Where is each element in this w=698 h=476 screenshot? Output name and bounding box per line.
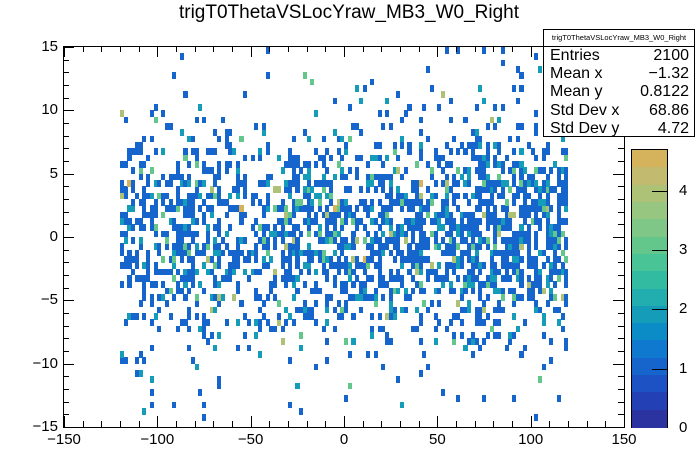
heatmap-cell bbox=[202, 402, 206, 409]
heatmap-cell bbox=[523, 167, 527, 174]
heatmap-cell bbox=[374, 294, 378, 301]
heatmap-cell bbox=[493, 123, 497, 130]
heatmap-cell bbox=[157, 180, 161, 187]
heatmap-cell bbox=[273, 269, 277, 276]
heatmap-cell bbox=[422, 104, 426, 111]
heatmap-cell bbox=[243, 155, 247, 162]
heatmap-cell bbox=[419, 281, 423, 288]
heatmap-cell bbox=[471, 281, 475, 288]
heatmap-cell bbox=[463, 345, 467, 352]
heatmap-cell bbox=[266, 250, 270, 257]
heatmap-cell bbox=[370, 79, 374, 86]
heatmap-cell bbox=[154, 205, 158, 212]
heatmap-cell bbox=[449, 231, 453, 238]
heatmap-cell bbox=[217, 300, 221, 307]
heatmap-cell bbox=[307, 136, 311, 143]
heatmap-cell bbox=[426, 364, 430, 371]
heatmap-cell bbox=[430, 262, 434, 269]
heatmap-cell bbox=[142, 161, 146, 168]
heatmap-cells bbox=[64, 47, 624, 427]
heatmap-cell bbox=[239, 218, 243, 225]
heatmap-cell bbox=[419, 117, 423, 124]
axis-tick bbox=[618, 288, 624, 289]
heatmap-cell bbox=[254, 218, 258, 225]
heatmap-cell bbox=[135, 256, 139, 263]
heatmap-cell bbox=[127, 262, 131, 269]
heatmap-cell bbox=[415, 326, 419, 333]
axis-tick bbox=[456, 46, 457, 52]
heatmap-cell bbox=[396, 237, 400, 244]
heatmap-cell bbox=[415, 161, 419, 168]
heatmap-cell bbox=[295, 383, 299, 390]
heatmap-cell bbox=[490, 256, 494, 263]
heatmap-cell bbox=[161, 148, 165, 155]
heatmap-cell bbox=[150, 193, 154, 200]
heatmap-cell bbox=[254, 123, 258, 130]
heatmap-cell bbox=[239, 250, 243, 257]
axis-tick bbox=[568, 421, 569, 427]
heatmap-cell bbox=[493, 281, 497, 288]
heatmap-cell bbox=[288, 148, 292, 155]
heatmap-cell bbox=[139, 167, 143, 174]
heatmap-cell bbox=[426, 205, 430, 212]
heatmap-cell bbox=[542, 332, 546, 339]
heatmap-cell bbox=[310, 186, 314, 193]
heatmap-cell bbox=[131, 199, 135, 206]
heatmap-cell bbox=[505, 180, 509, 187]
heatmap-cell bbox=[217, 174, 221, 181]
heatmap-cell bbox=[463, 117, 467, 124]
heatmap-cell bbox=[542, 262, 546, 269]
axis-tick bbox=[101, 421, 102, 427]
heatmap-cell bbox=[273, 326, 277, 333]
heatmap-cell bbox=[266, 205, 270, 212]
heatmap-cell bbox=[363, 288, 367, 295]
heatmap-cell bbox=[531, 174, 535, 181]
heatmap-cell bbox=[217, 332, 221, 339]
heatmap-cell bbox=[344, 174, 348, 181]
axis-tick bbox=[618, 414, 624, 415]
heatmap-cell bbox=[217, 224, 221, 231]
heatmap-cell bbox=[295, 256, 299, 263]
heatmap-cell bbox=[419, 199, 423, 206]
x-axis-tick-label: −150 bbox=[34, 431, 94, 448]
heatmap-cell bbox=[318, 288, 322, 295]
heatmap-cell bbox=[150, 376, 154, 383]
heatmap-cell bbox=[131, 180, 135, 187]
heatmap-cell bbox=[549, 357, 553, 364]
heatmap-cell bbox=[202, 218, 206, 225]
heatmap-cell bbox=[557, 224, 561, 231]
heatmap-cell bbox=[254, 243, 258, 250]
heatmap-cell bbox=[467, 300, 471, 307]
heatmap-cell bbox=[561, 313, 565, 320]
heatmap-cell bbox=[120, 281, 124, 288]
heatmap-cell bbox=[467, 180, 471, 187]
heatmap-cell bbox=[564, 243, 568, 250]
heatmap-cell bbox=[497, 174, 501, 181]
heatmap-cell bbox=[139, 148, 143, 155]
heatmap-cell bbox=[396, 243, 400, 250]
heatmap-cell bbox=[437, 319, 441, 326]
heatmap-cell bbox=[202, 414, 206, 421]
heatmap-cell bbox=[355, 256, 359, 263]
heatmap-cell bbox=[422, 231, 426, 238]
heatmap-cell bbox=[441, 91, 445, 98]
heatmap-cell bbox=[210, 269, 214, 276]
heatmap-cell bbox=[538, 193, 542, 200]
y-axis-tick-label: −10 bbox=[33, 355, 58, 372]
heatmap-cell bbox=[366, 186, 370, 193]
heatmap-cell bbox=[135, 250, 139, 257]
heatmap-cell bbox=[359, 186, 363, 193]
heatmap-cell bbox=[288, 218, 292, 225]
heatmap-cell bbox=[120, 110, 124, 117]
heatmap-cell bbox=[512, 332, 516, 339]
heatmap-cell bbox=[557, 237, 561, 244]
heatmap-cell bbox=[445, 205, 449, 212]
heatmap-cell bbox=[254, 231, 258, 238]
axis-tick bbox=[531, 416, 532, 427]
heatmap-cell bbox=[277, 186, 281, 193]
heatmap-cell bbox=[434, 338, 438, 345]
heatmap-cell bbox=[135, 357, 139, 364]
heatmap-cell bbox=[564, 256, 568, 263]
heatmap-cell bbox=[266, 237, 270, 244]
statistics-row-key: Entries bbox=[550, 47, 600, 65]
heatmap-cell bbox=[333, 250, 337, 257]
heatmap-cell bbox=[419, 212, 423, 219]
heatmap-cell bbox=[546, 212, 550, 219]
heatmap-cell bbox=[512, 174, 516, 181]
heatmap-cell bbox=[516, 250, 520, 257]
heatmap-cell bbox=[434, 180, 438, 187]
heatmap-cell bbox=[307, 243, 311, 250]
heatmap-cell bbox=[295, 262, 299, 269]
heatmap-cell bbox=[411, 205, 415, 212]
heatmap-cell bbox=[478, 231, 482, 238]
heatmap-cell bbox=[180, 129, 184, 136]
heatmap-cell bbox=[206, 231, 210, 238]
heatmap-cell bbox=[519, 224, 523, 231]
heatmap-cell bbox=[516, 262, 520, 269]
heatmap-cell bbox=[449, 319, 453, 326]
heatmap-cell bbox=[419, 313, 423, 320]
heatmap-cell bbox=[538, 218, 542, 225]
heatmap-cell bbox=[202, 117, 206, 124]
heatmap-cell bbox=[512, 167, 516, 174]
heatmap-cell bbox=[202, 332, 206, 339]
heatmap-cell bbox=[187, 224, 191, 231]
heatmap-cell bbox=[370, 243, 374, 250]
heatmap-cell bbox=[359, 129, 363, 136]
axis-tick bbox=[213, 46, 214, 52]
heatmap-cell bbox=[303, 129, 307, 136]
heatmap-cell bbox=[493, 205, 497, 212]
heatmap-cell bbox=[512, 300, 516, 307]
heatmap-cell bbox=[206, 237, 210, 244]
heatmap-cell bbox=[232, 294, 236, 301]
heatmap-cell bbox=[258, 269, 262, 276]
heatmap-cell bbox=[202, 212, 206, 219]
heatmap-cell bbox=[493, 212, 497, 219]
heatmap-cell bbox=[460, 262, 464, 269]
heatmap-cell bbox=[344, 142, 348, 149]
heatmap-cell bbox=[482, 319, 486, 326]
heatmap-cell bbox=[281, 167, 285, 174]
heatmap-cell bbox=[497, 117, 501, 124]
heatmap-cell bbox=[236, 319, 240, 326]
heatmap-cell bbox=[407, 148, 411, 155]
heatmap-cell bbox=[254, 256, 258, 263]
heatmap-cell bbox=[187, 326, 191, 333]
axis-tick bbox=[613, 300, 624, 301]
axis-tick bbox=[63, 47, 74, 48]
axis-tick bbox=[63, 98, 69, 99]
plot-frame bbox=[63, 46, 625, 428]
heatmap-cell bbox=[333, 174, 337, 181]
heatmap-cell bbox=[213, 180, 217, 187]
heatmap-cell bbox=[475, 250, 479, 257]
heatmap-cell bbox=[333, 281, 337, 288]
axis-tick bbox=[475, 421, 476, 427]
heatmap-cell bbox=[378, 262, 382, 269]
heatmap-cell bbox=[221, 117, 225, 124]
heatmap-cell bbox=[187, 307, 191, 314]
axis-tick bbox=[618, 161, 624, 162]
heatmap-cell bbox=[161, 199, 165, 206]
heatmap-cell bbox=[411, 275, 415, 282]
heatmap-cell bbox=[475, 104, 479, 111]
heatmap-cell bbox=[478, 243, 482, 250]
heatmap-cell bbox=[452, 288, 456, 295]
heatmap-cell bbox=[172, 218, 176, 225]
heatmap-cell bbox=[493, 237, 497, 244]
heatmap-cell bbox=[225, 319, 229, 326]
heatmap-cell bbox=[497, 332, 501, 339]
heatmap-cell bbox=[493, 243, 497, 250]
heatmap-cell bbox=[516, 66, 520, 73]
heatmap-cell bbox=[519, 85, 523, 92]
heatmap-cell bbox=[351, 212, 355, 219]
axis-tick bbox=[251, 46, 252, 57]
heatmap-cell bbox=[411, 231, 415, 238]
heatmap-cell bbox=[478, 288, 482, 295]
heatmap-cell bbox=[236, 161, 240, 168]
heatmap-cell bbox=[146, 180, 150, 187]
heatmap-cell bbox=[471, 269, 475, 276]
heatmap-cell bbox=[553, 294, 557, 301]
heatmap-cell bbox=[546, 199, 550, 206]
heatmap-cell bbox=[135, 313, 139, 320]
heatmap-cell bbox=[452, 136, 456, 143]
heatmap-cell bbox=[527, 243, 531, 250]
heatmap-cell bbox=[161, 281, 165, 288]
heatmap-cell bbox=[292, 281, 296, 288]
heatmap-cell bbox=[385, 155, 389, 162]
heatmap-cell bbox=[191, 237, 195, 244]
heatmap-cell bbox=[460, 218, 464, 225]
heatmap-cell bbox=[456, 205, 460, 212]
heatmap-cell bbox=[217, 186, 221, 193]
axis-tick bbox=[83, 46, 84, 52]
heatmap-cell bbox=[314, 300, 318, 307]
heatmap-cell bbox=[478, 269, 482, 276]
heatmap-cell bbox=[430, 199, 434, 206]
heatmap-cell bbox=[538, 376, 542, 383]
heatmap-cell bbox=[434, 313, 438, 320]
heatmap-cell bbox=[217, 218, 221, 225]
heatmap-cell bbox=[497, 231, 501, 238]
axis-tick bbox=[63, 262, 69, 263]
heatmap-cell bbox=[120, 250, 124, 257]
heatmap-cell bbox=[195, 186, 199, 193]
heatmap-cell bbox=[374, 218, 378, 225]
heatmap-cell bbox=[475, 129, 479, 136]
heatmap-cell bbox=[534, 129, 538, 136]
heatmap-cell bbox=[534, 256, 538, 263]
heatmap-cell bbox=[310, 313, 314, 320]
heatmap-cell bbox=[243, 174, 247, 181]
heatmap-cell bbox=[243, 313, 247, 320]
heatmap-cell bbox=[456, 300, 460, 307]
heatmap-cell bbox=[400, 136, 404, 143]
heatmap-cell bbox=[180, 288, 184, 295]
heatmap-cell bbox=[310, 256, 314, 263]
heatmap-cell bbox=[169, 180, 173, 187]
heatmap-cell bbox=[183, 148, 187, 155]
heatmap-cell bbox=[150, 345, 154, 352]
heatmap-cell bbox=[482, 307, 486, 314]
heatmap-cell bbox=[262, 123, 266, 130]
heatmap-cell bbox=[493, 104, 497, 111]
heatmap-cell bbox=[419, 155, 423, 162]
heatmap-cell bbox=[381, 364, 385, 371]
heatmap-cell bbox=[393, 313, 397, 320]
heatmap-cell bbox=[333, 307, 337, 314]
color-bar-band bbox=[632, 392, 667, 410]
heatmap-cell bbox=[139, 142, 143, 149]
heatmap-cell bbox=[303, 281, 307, 288]
axis-tick bbox=[63, 275, 69, 276]
heatmap-cell bbox=[389, 123, 393, 130]
heatmap-cell bbox=[154, 199, 158, 206]
heatmap-cell bbox=[195, 364, 199, 371]
statistics-row-key: Std Dev y bbox=[550, 120, 619, 138]
heatmap-cell bbox=[236, 256, 240, 263]
color-bar-tick-label: 0 bbox=[679, 419, 687, 436]
heatmap-cell bbox=[486, 332, 490, 339]
heatmap-cell bbox=[131, 224, 135, 231]
heatmap-cell bbox=[228, 129, 232, 136]
heatmap-cell bbox=[419, 319, 423, 326]
heatmap-cell bbox=[288, 269, 292, 276]
heatmap-cell bbox=[262, 300, 266, 307]
heatmap-cell bbox=[355, 123, 359, 130]
axis-tick bbox=[63, 136, 69, 137]
heatmap-cell bbox=[325, 357, 329, 364]
axis-tick bbox=[63, 123, 69, 124]
color-bar-tick bbox=[652, 191, 668, 192]
heatmap-cell bbox=[486, 224, 490, 231]
heatmap-cell bbox=[288, 186, 292, 193]
heatmap-cell bbox=[307, 161, 311, 168]
statistics-row-key: Std Dev x bbox=[550, 102, 619, 120]
heatmap-cell bbox=[490, 117, 494, 124]
color-bar-band bbox=[632, 271, 667, 289]
heatmap-cell bbox=[482, 167, 486, 174]
heatmap-cell bbox=[243, 186, 247, 193]
heatmap-cell bbox=[239, 300, 243, 307]
heatmap-cell bbox=[258, 326, 262, 333]
heatmap-cell bbox=[281, 326, 285, 333]
heatmap-cell bbox=[549, 205, 553, 212]
x-axis-tick-label: −50 bbox=[221, 431, 281, 448]
color-bar-band bbox=[632, 323, 667, 341]
heatmap-cell bbox=[486, 148, 490, 155]
heatmap-cell bbox=[187, 180, 191, 187]
heatmap-cell bbox=[247, 256, 251, 263]
heatmap-cell bbox=[381, 250, 385, 257]
heatmap-cell bbox=[150, 402, 154, 409]
heatmap-cell bbox=[363, 224, 367, 231]
heatmap-cell bbox=[430, 174, 434, 181]
heatmap-cell bbox=[165, 243, 169, 250]
heatmap-cell bbox=[542, 288, 546, 295]
heatmap-cell bbox=[243, 212, 247, 219]
heatmap-cell bbox=[411, 288, 415, 295]
color-bar-band bbox=[632, 219, 667, 237]
heatmap-cell bbox=[228, 193, 232, 200]
heatmap-cell bbox=[210, 167, 214, 174]
heatmap-cell bbox=[281, 338, 285, 345]
heatmap-cell bbox=[191, 357, 195, 364]
heatmap-cell bbox=[135, 193, 139, 200]
heatmap-cell bbox=[213, 275, 217, 282]
heatmap-cell bbox=[378, 155, 382, 162]
axis-tick bbox=[618, 148, 624, 149]
heatmap-cell bbox=[299, 231, 303, 238]
heatmap-cell bbox=[187, 313, 191, 320]
heatmap-cell bbox=[146, 155, 150, 162]
axis-tick bbox=[157, 46, 158, 57]
heatmap-cell bbox=[337, 212, 341, 219]
heatmap-cell bbox=[426, 66, 430, 73]
heatmap-cell bbox=[561, 250, 565, 257]
heatmap-cell bbox=[478, 345, 482, 352]
heatmap-cell bbox=[333, 98, 337, 105]
heatmap-cell bbox=[202, 326, 206, 333]
root-canvas: trigT0ThetaVSLocYraw_MB3_W0_Right 151050… bbox=[0, 0, 698, 476]
heatmap-cell bbox=[232, 269, 236, 276]
heatmap-cell bbox=[549, 338, 553, 345]
heatmap-cell bbox=[142, 288, 146, 295]
heatmap-cell bbox=[389, 300, 393, 307]
heatmap-cell bbox=[180, 237, 184, 244]
heatmap-cell bbox=[124, 357, 128, 364]
heatmap-cell bbox=[553, 186, 557, 193]
heatmap-cell bbox=[501, 161, 505, 168]
heatmap-cell bbox=[370, 332, 374, 339]
heatmap-cell bbox=[180, 256, 184, 263]
heatmap-cell bbox=[534, 53, 538, 60]
color-bar-band bbox=[632, 358, 667, 376]
heatmap-cell bbox=[452, 338, 456, 345]
heatmap-cell bbox=[172, 294, 176, 301]
heatmap-cell bbox=[434, 148, 438, 155]
heatmap-cell bbox=[247, 345, 251, 352]
heatmap-cell bbox=[127, 281, 131, 288]
